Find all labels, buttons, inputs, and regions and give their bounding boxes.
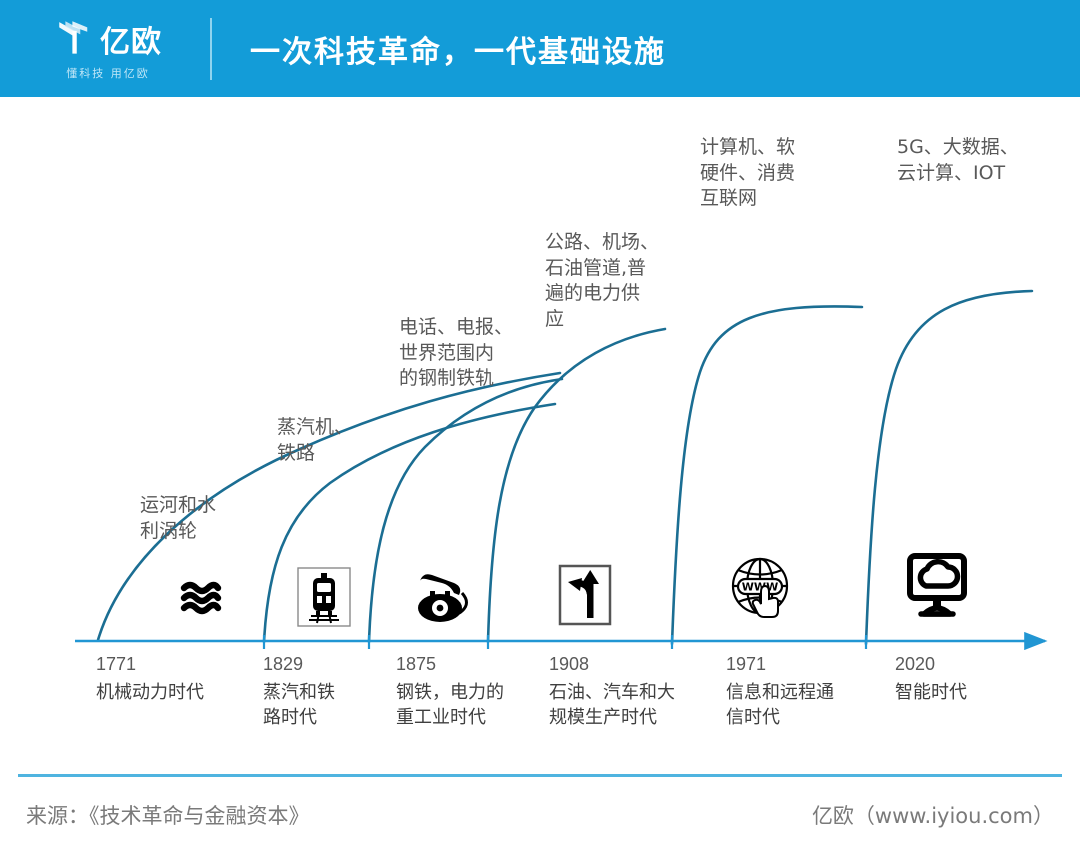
annotation-1908: 公路、机场、 石油管道,普 遍的电力供 应 <box>545 230 659 333</box>
annotation-1829: 蒸汽机、 铁路 <box>277 415 353 466</box>
footer-divider <box>18 774 1062 777</box>
rotary-telephone-icon <box>412 567 478 627</box>
header-divider <box>210 18 212 80</box>
timeline-chart: 运河和水 利涡轮 蒸汽机、 铁路 电话、电报、 世界范围内 的钢制铁轨 公路、机… <box>0 97 1080 769</box>
tick-label-era-1971: 信息和远程通 信时代 <box>726 680 834 730</box>
water-waves-icon <box>175 570 231 626</box>
source-label: 来源：《技术革命与金融资本》 <box>26 800 310 830</box>
tick-label-year-1908: 1908 <box>549 654 589 675</box>
yiou-leaf-logo-icon <box>54 16 96 58</box>
logo-tagline: 懂科技 用亿欧 <box>66 65 150 81</box>
road-sign-arrows-icon <box>558 564 614 628</box>
logo-wordmark: 亿欧 <box>100 28 162 58</box>
annotation-2020: 5G、大数据、 云计算、IOT <box>897 135 1019 186</box>
tick-label-era-1771: 机械动力时代 <box>96 680 204 705</box>
page-header: 亿欧 懂科技 用亿欧 一次科技革命，一代基础设施 <box>0 0 1080 97</box>
tick-label-year-1771: 1771 <box>96 654 136 675</box>
tick-label-year-1971: 1971 <box>726 654 766 675</box>
annotation-1875: 电话、电报、 世界范围内 的钢制铁轨 <box>399 315 513 392</box>
logo-row: 亿欧 <box>54 16 162 58</box>
annotation-1971: 计算机、软 硬件、消费 互联网 <box>700 135 795 212</box>
tick-label-era-1875: 钢铁，电力的 重工业时代 <box>396 680 504 730</box>
page-title: 一次科技革命，一代基础设施 <box>250 27 666 71</box>
tick-label-year-1875: 1875 <box>396 654 436 675</box>
annotation-1771: 运河和水 利涡轮 <box>140 493 216 544</box>
tick-label-year-2020: 2020 <box>895 654 935 675</box>
www-globe-hand-icon: WWW <box>726 552 796 624</box>
svg-text:WWW: WWW <box>742 581 778 594</box>
tick-label-era-1829: 蒸汽和铁 路时代 <box>263 680 335 730</box>
train-icon <box>297 567 353 629</box>
tick-label-year-1829: 1829 <box>263 654 303 675</box>
tick-label-era-1908: 石油、汽车和大 规模生产时代 <box>549 680 675 730</box>
cloud-monitor-icon <box>906 552 970 622</box>
page-footer: 来源：《技术革命与金融资本》 亿欧（www.iyiou.com） <box>0 786 1080 843</box>
tick-label-era-2020: 智能时代 <box>895 680 967 705</box>
site-credit: 亿欧（www.iyiou.com） <box>812 800 1054 830</box>
brand-logo: 亿欧 懂科技 用亿欧 <box>28 16 188 81</box>
